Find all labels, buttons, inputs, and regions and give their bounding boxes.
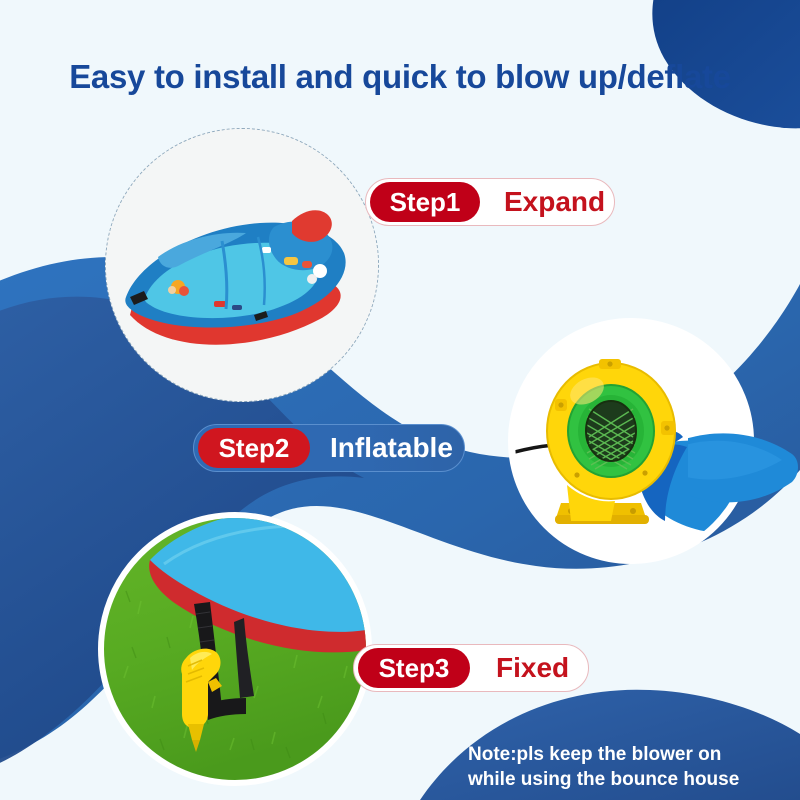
page-title: Easy to install and quick to blow up/def… [0,58,800,96]
step1-photo [105,128,379,402]
step2-pill-label: Step2 [198,428,310,468]
blue-hose-extension [688,430,800,540]
step3-photo [98,512,372,786]
step2-word-label: Inflatable [330,432,453,464]
step3-badge[interactable]: Step3 Fixed [353,644,589,692]
step2-hose-overflow [688,430,800,540]
promo-infographic: Easy to install and quick to blow up/def… [0,0,800,800]
step2-badge[interactable]: Step2 Inflatable [193,424,465,472]
deflated-bounce-house-illustration [106,129,378,401]
step3-word-label: Fixed [496,652,569,684]
step3-pill-label: Step3 [358,648,470,688]
note-line-1: Note:pls keep the blower on [468,742,788,767]
step1-badge[interactable]: Step1 Expand [365,178,615,226]
step1-word-label: Expand [504,186,605,218]
step1-pill-label: Step1 [370,182,480,222]
note-line-2: while using the bounce house [468,767,788,792]
ground-stake-illustration [104,518,366,780]
bottom-note: Note:pls keep the blower on while using … [468,742,788,792]
